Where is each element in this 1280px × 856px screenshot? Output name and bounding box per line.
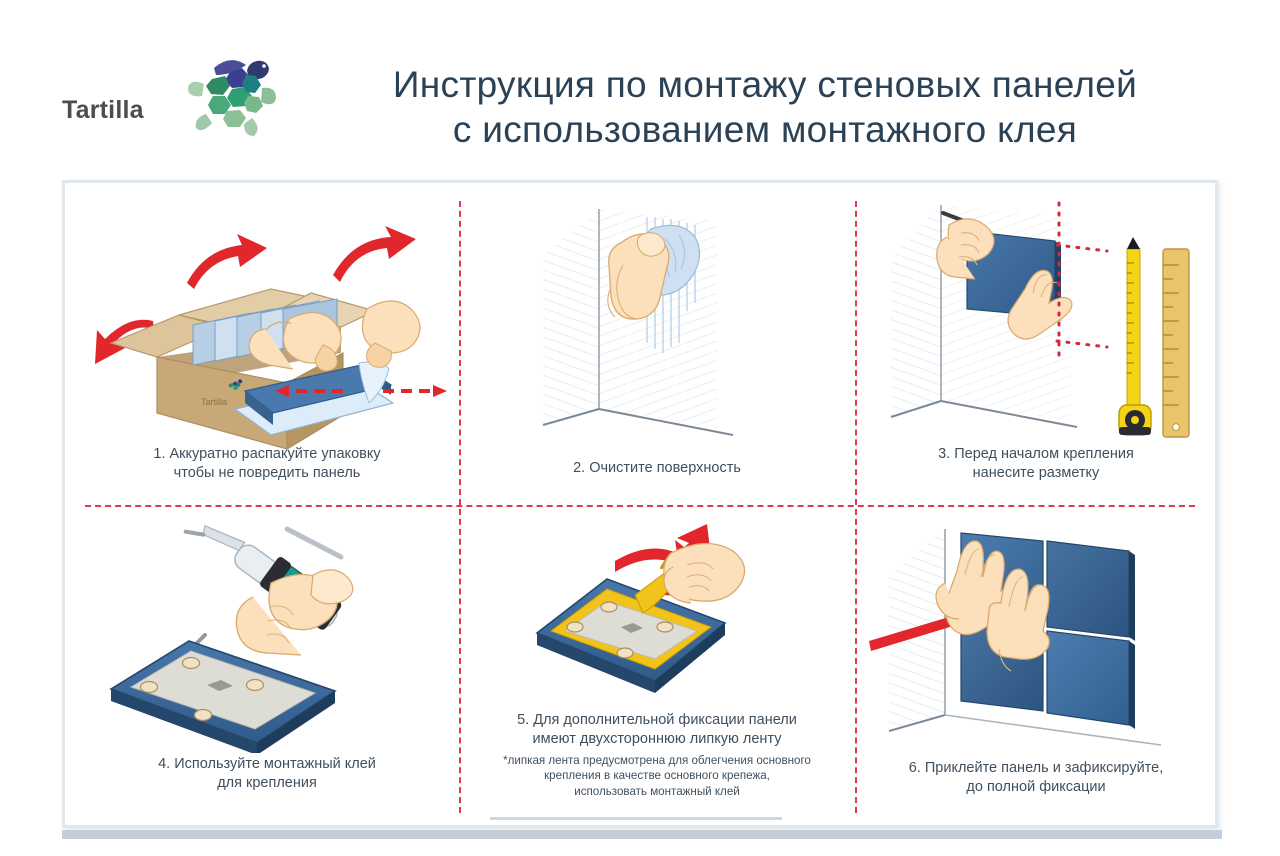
brand-lockup: Tartilla: [62, 52, 282, 148]
step-caption-3-line-1: 3. Перед началом крепления: [865, 445, 1207, 464]
brand-name: Tartilla: [62, 96, 144, 125]
step-footnote-5-line-1: *липкая лента предусмотрена для облегчен…: [465, 753, 849, 768]
step-caption-6: 6. Приклейте панель и зафиксируйте, до п…: [865, 759, 1207, 797]
pressing-panels-on-wall-illustration: [861, 519, 1211, 756]
step-cell-1: Tartilla: [75, 193, 459, 503]
steps-grid: Tartilla: [65, 183, 1215, 825]
step-caption-2: 2. Очистите поверхность: [469, 459, 845, 478]
cardboard-box-unpacking-illustration: Tartilla: [75, 193, 459, 458]
step-caption-5-line-1: 5. Для дополнительной фиксации панели: [469, 711, 845, 730]
step-caption-1-line-2: чтобы не повредить панель: [79, 464, 455, 483]
page-header: Tartilla: [0, 0, 1280, 178]
step-caption-1-line-1: 1. Аккуратно распакуйте упаковку: [79, 445, 455, 464]
step-cell-6: 6. Приклейте панель и зафиксируйте, до п…: [861, 515, 1211, 815]
instruction-panel-frame: Tartilla: [62, 180, 1218, 828]
step-footnote-5-line-3: использовать монтажный клей: [465, 784, 849, 799]
step-caption-4-line-1: 4. Используйте монтажный клей: [79, 755, 455, 774]
step-cell-5: 5. Для дополнительной фиксации панели им…: [465, 515, 849, 815]
step-5-underline-rule: [490, 817, 782, 820]
tape-measure-illustration: [1119, 237, 1151, 435]
wooden-ruler-illustration: [1163, 249, 1189, 437]
step-cell-4: 4. Используйте монтажный клей для крепле…: [75, 515, 459, 815]
step-caption-6-line-1: 6. Приклейте панель и зафиксируйте,: [865, 759, 1207, 778]
step-caption-4: 4. Используйте монтажный клей для крепле…: [79, 755, 455, 793]
step-cell-2: 2. Очистите поверхность: [465, 193, 849, 503]
turtle-logo-icon: [182, 48, 282, 148]
peeling-double-sided-tape-illustration: [465, 517, 849, 718]
hand-right-illustration: [362, 301, 419, 367]
step-caption-4-line-2: для крепления: [79, 774, 455, 793]
step-caption-5-line-2: имеют двухстороннюю липкую ленту: [469, 730, 845, 749]
page-title-line-1: Инструкция по монтажу стеновых панелей: [290, 62, 1240, 107]
step-cell-3: 3. Перед началом крепления нанесите разм…: [861, 193, 1211, 503]
hand-peeling-tape-illustration: [664, 543, 745, 603]
step-caption-3-line-2: нанесите разметку: [865, 464, 1207, 483]
marking-wall-with-pencil-illustration: [861, 193, 1211, 456]
divider-vertical-right: [855, 201, 857, 813]
caulk-gun-applying-glue-illustration: [75, 523, 459, 758]
page-title-line-2: с использованием монтажного клея: [290, 107, 1240, 152]
divider-vertical-left: [459, 201, 461, 813]
page-title: Инструкция по монтажу стеновых панелей с…: [290, 62, 1240, 152]
step-caption-6-line-2: до полной фиксации: [865, 778, 1207, 797]
step-caption-3: 3. Перед началом крепления нанесите разм…: [865, 445, 1207, 483]
step-caption-2-line-1: 2. Очистите поверхность: [469, 459, 845, 478]
bottom-accent-bar: [62, 830, 1222, 839]
step-footnote-5: *липкая лента предусмотрена для облегчен…: [465, 753, 849, 799]
step-caption-5: 5. Для дополнительной фиксации панели им…: [469, 711, 845, 749]
box-brand-label: Tartilla: [201, 397, 227, 407]
hand-wiping-wall-illustration: [465, 193, 849, 456]
step-footnote-5-line-2: крепления в качестве основного крепежа,: [465, 768, 849, 783]
step-caption-1: 1. Аккуратно распакуйте упаковку чтобы н…: [79, 445, 455, 483]
divider-horizontal: [85, 505, 1195, 507]
